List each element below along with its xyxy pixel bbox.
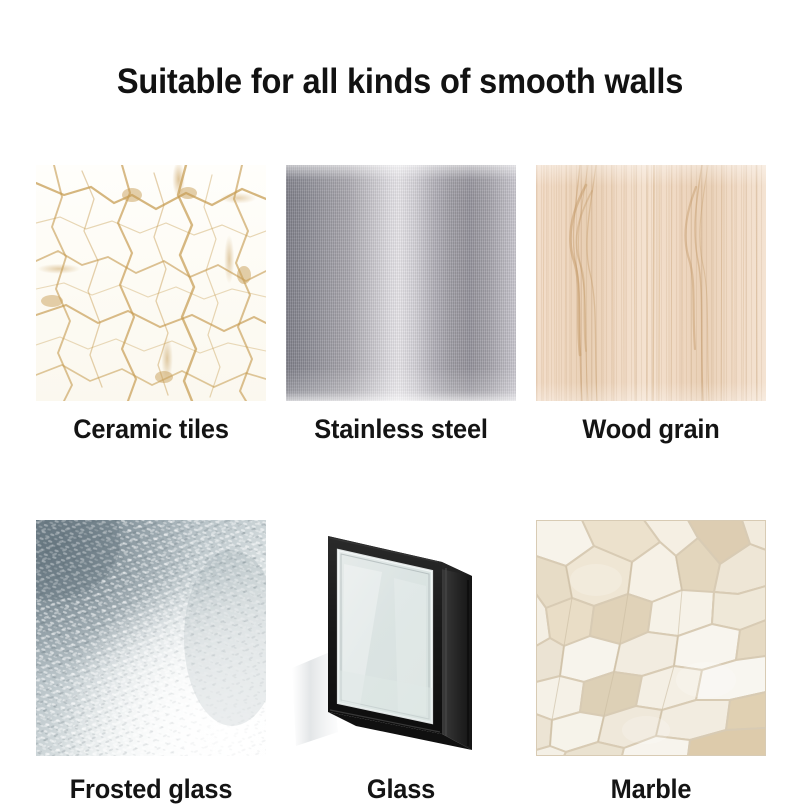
material-label-marble: Marble	[543, 774, 759, 805]
wood-grain-pattern	[536, 165, 766, 401]
material-label-frosted-glass: Frosted glass	[43, 774, 259, 805]
wood-grain-swatch	[536, 165, 766, 401]
material-row-1: Ceramic tiles Stainless steel	[36, 165, 766, 445]
ceramic-veining-pattern	[36, 165, 266, 401]
glass-panel-illustration	[286, 520, 516, 756]
material-cell-wood-grain[interactable]: Wood grain	[536, 165, 766, 445]
infographic-page: Suitable for all kinds of smooth walls	[0, 0, 800, 800]
material-cell-frosted-glass[interactable]: Frosted glass	[36, 520, 266, 805]
material-label-wood-grain: Wood grain	[543, 414, 759, 445]
page-title: Suitable for all kinds of smooth walls	[28, 62, 772, 102]
material-label-ceramic-tiles: Ceramic tiles	[43, 414, 259, 445]
ceramic-tiles-swatch	[36, 165, 266, 401]
material-cell-stainless-steel[interactable]: Stainless steel	[286, 165, 516, 445]
frosted-texture-pattern	[36, 520, 266, 756]
material-cell-glass[interactable]: Glass	[286, 520, 516, 805]
frosted-glass-swatch	[36, 520, 266, 756]
marble-swatch	[536, 520, 766, 756]
material-cell-marble[interactable]: Marble	[536, 520, 766, 805]
material-label-stainless-steel: Stainless steel	[293, 414, 509, 445]
glass-panel-swatch	[286, 520, 516, 756]
marble-mosaic-pattern	[536, 520, 766, 756]
material-label-glass: Glass	[293, 774, 509, 805]
stainless-steel-swatch	[286, 165, 516, 401]
material-row-2: Frosted glass	[36, 520, 766, 805]
material-cell-ceramic-tiles[interactable]: Ceramic tiles	[36, 165, 266, 445]
material-grid: Ceramic tiles Stainless steel	[36, 165, 766, 805]
